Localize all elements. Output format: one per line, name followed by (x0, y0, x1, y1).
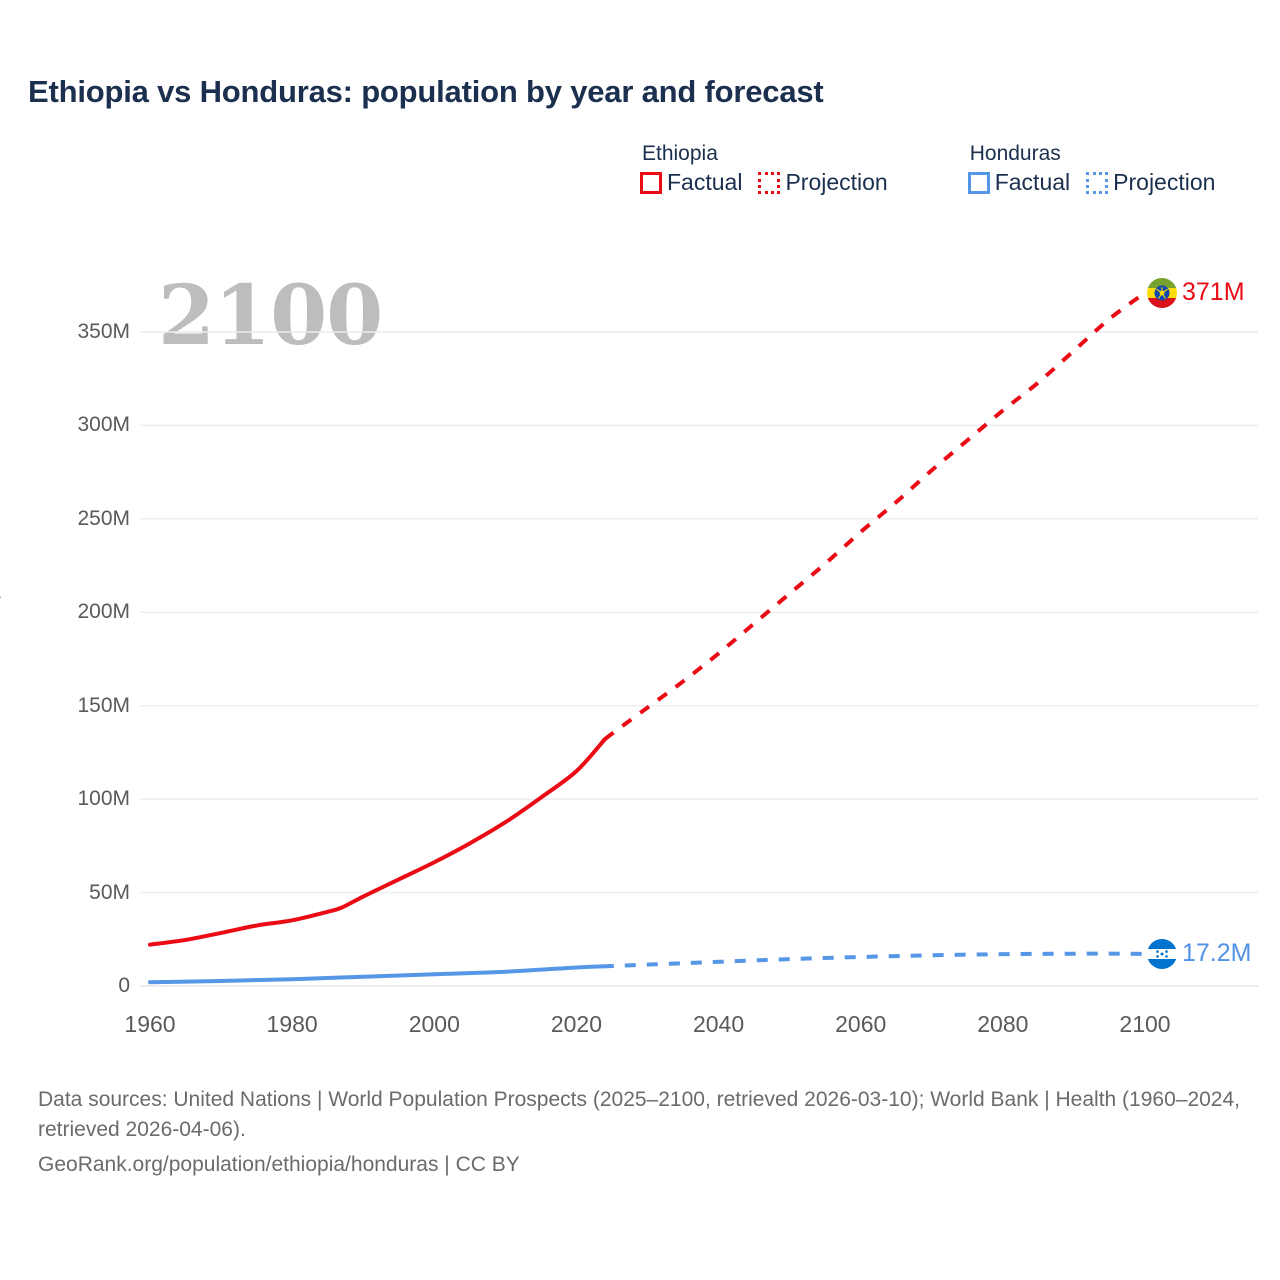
honduras-endpoint-value: 17.2M (1182, 941, 1251, 966)
chart-plot-area: 2100 Population 050M100M150M200M250M300M… (0, 0, 1280, 1070)
footer-attribution: GeoRank.org/population/ethiopia/honduras… (38, 1150, 1248, 1180)
ethiopia-endpoint-value: 371M (1182, 280, 1245, 305)
line-honduras-projection (604, 954, 1145, 967)
line-ethiopia-projection (605, 293, 1145, 739)
footer-sources: Data sources: United Nations | World Pop… (38, 1085, 1248, 1146)
line-honduras-factual (150, 966, 605, 982)
chart-footer: Data sources: United Nations | World Pop… (38, 1085, 1248, 1180)
chart-series (150, 293, 1145, 983)
ethiopia-flag-icon (1147, 278, 1177, 308)
line-ethiopia-factual (150, 739, 605, 944)
honduras-flag-icon (1147, 939, 1177, 969)
chart-gridlines (140, 332, 1258, 986)
honduras-endpoint: 17.2M (1147, 939, 1251, 969)
ethiopia-endpoint: 371M (1147, 278, 1245, 308)
chart-svg (0, 0, 1280, 1070)
